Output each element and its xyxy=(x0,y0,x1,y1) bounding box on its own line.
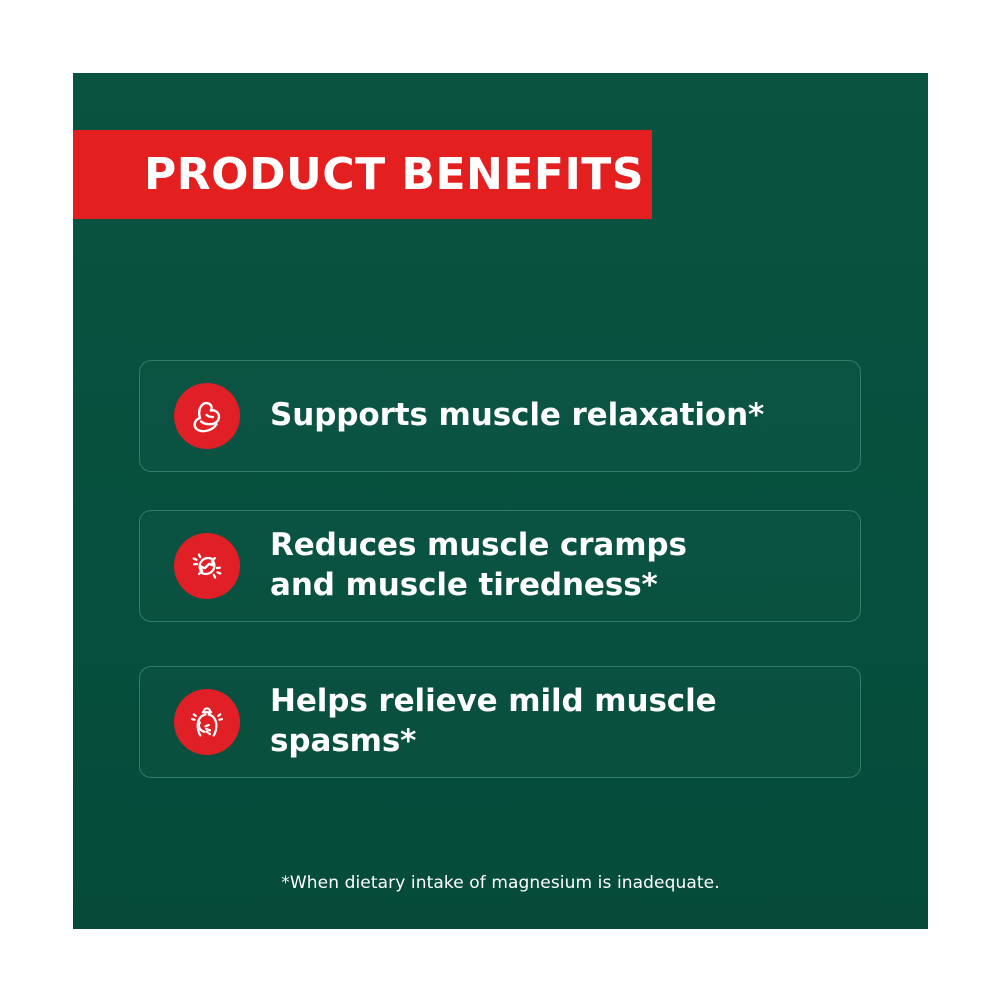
benefits-panel: PRODUCT BENEFITS Su xyxy=(73,73,928,929)
benefit-text-3: Helps relieve mild muscle spasms* xyxy=(240,682,860,761)
muscle-cramp-icon xyxy=(174,533,240,599)
product-benefits-graphic: PRODUCT BENEFITS Su xyxy=(0,0,1000,1000)
benefits-list: Supports muscle relaxation* xyxy=(139,360,861,778)
benefit-card-2: Reduces muscle cramps and muscle tiredne… xyxy=(139,510,861,622)
back-spasm-person-icon xyxy=(174,689,240,755)
benefit-text-1: Supports muscle relaxation* xyxy=(240,396,764,436)
benefit-card-3: Helps relieve mild muscle spasms* xyxy=(139,666,861,778)
flexed-bicep-icon xyxy=(174,383,240,449)
footnote: *When dietary intake of magnesium is ina… xyxy=(73,873,928,893)
page-title: PRODUCT BENEFITS xyxy=(73,153,644,197)
benefit-text-2: Reduces muscle cramps and muscle tiredne… xyxy=(240,526,687,605)
benefit-card-1: Supports muscle relaxation* xyxy=(139,360,861,472)
banner: PRODUCT BENEFITS xyxy=(73,130,652,219)
